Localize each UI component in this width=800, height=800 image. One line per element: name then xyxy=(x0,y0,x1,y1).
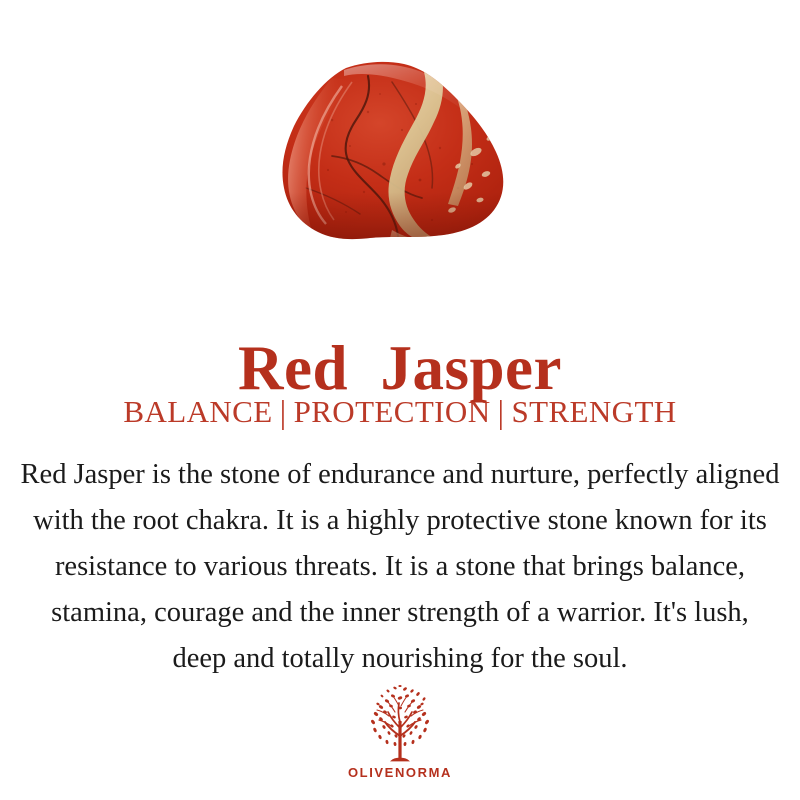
red-jasper-stone-image xyxy=(272,60,528,246)
product-info-card: Red Jasper BALANCE|PROTECTION|STRENGTH R… xyxy=(0,0,800,800)
keyword-separator: | xyxy=(280,395,287,431)
olive-tree-icon xyxy=(358,684,442,762)
brand-logo: OLIVENORMA xyxy=(0,684,800,781)
keyword-line: BALANCE|PROTECTION|STRENGTH xyxy=(0,394,800,430)
keyword-strength: STRENGTH xyxy=(512,394,677,429)
description-text: Red Jasper is the stone of endurance and… xyxy=(8,452,792,682)
description-line: deep and totally nourishing for the soul… xyxy=(8,636,792,682)
keyword-protection: PROTECTION xyxy=(294,394,491,429)
hero-image-container xyxy=(0,58,800,248)
keyword-balance: BALANCE xyxy=(123,394,272,429)
description-line: resistance to various threats. It is a s… xyxy=(8,544,792,590)
description-line: with the root chakra. It is a highly pro… xyxy=(8,498,792,544)
brand-wordmark: OLIVENORMA xyxy=(348,765,452,781)
description-line: stamina, courage and the inner strength … xyxy=(8,590,792,636)
description-line: Red Jasper is the stone of endurance and… xyxy=(8,452,792,498)
page-title: Red Jasper xyxy=(0,333,800,403)
keyword-separator: | xyxy=(497,395,504,431)
